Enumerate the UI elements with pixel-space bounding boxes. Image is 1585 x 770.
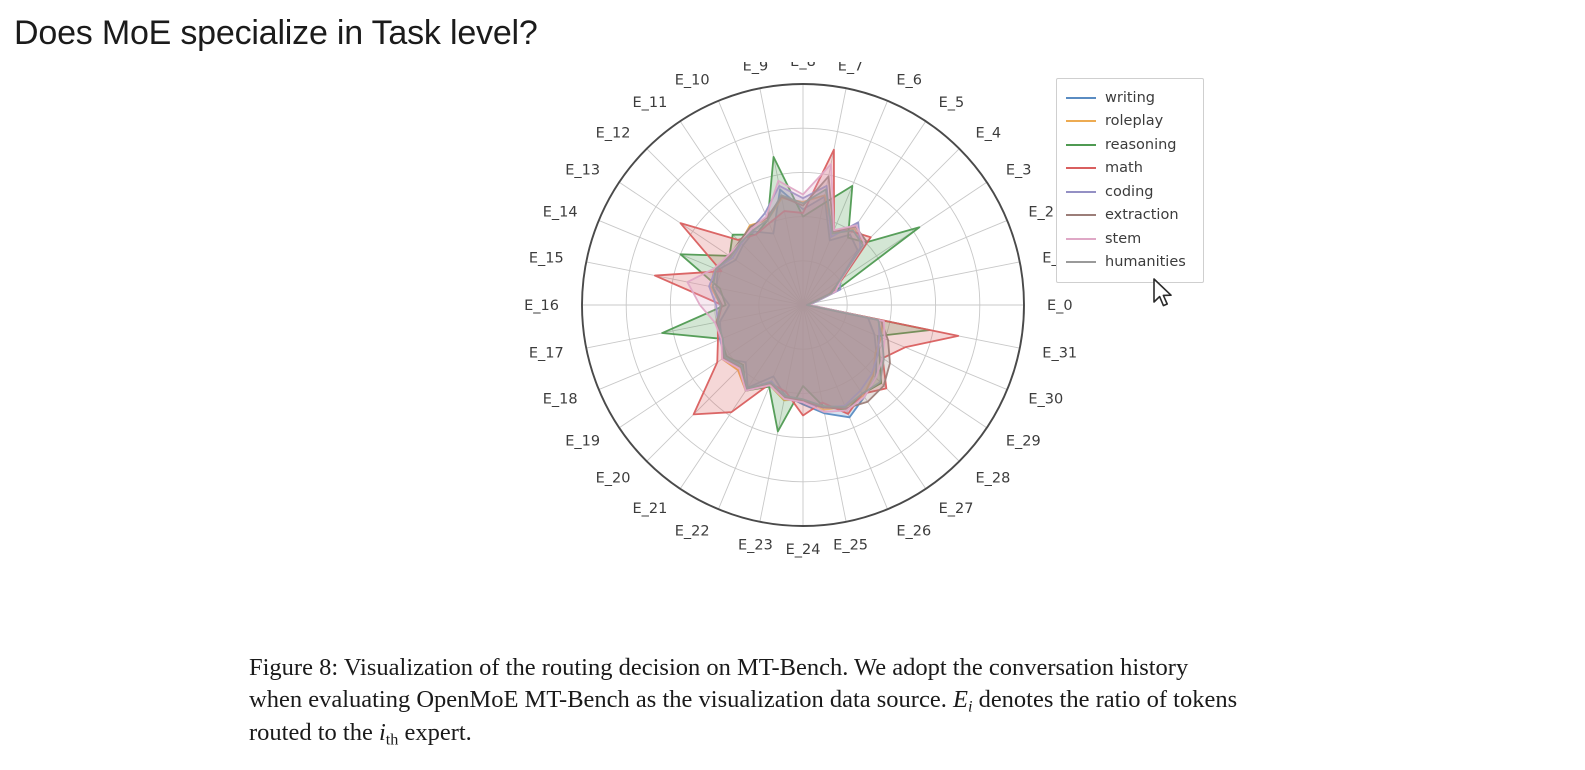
radar-tick-label-E_13: E_13 [565, 162, 600, 178]
radar-tick-label-E_10: E_10 [675, 73, 710, 89]
caption-line-2b: denotes the ratio of tokens [972, 686, 1237, 713]
legend-item-humanities[interactable]: humanities [1066, 251, 1194, 275]
figure-caption: Figure 8: Visualization of the routing d… [249, 652, 1494, 751]
legend-item-extraction[interactable]: extraction [1066, 204, 1194, 228]
radar-tick-label-E_6: E_6 [896, 73, 922, 89]
legend-swatch-roleplay [1066, 120, 1096, 122]
caption-line-3a: routed to the [249, 719, 379, 746]
radar-tick-label-E_3: E_3 [1006, 162, 1032, 178]
legend-swatch-extraction [1066, 214, 1096, 216]
radar-tick-label-E_16: E_16 [524, 298, 559, 314]
legend-item-roleplay[interactable]: roleplay [1066, 110, 1194, 134]
radar-tick-label-E_19: E_19 [565, 434, 600, 450]
radar-tick-label-E_27: E_27 [939, 501, 974, 517]
legend-label-writing: writing [1105, 91, 1155, 106]
legend-label-reasoning: reasoning [1105, 138, 1177, 153]
radar-chart: E_0E_1E_2E_3E_4E_5E_6E_7E_8E_9E_10E_11E_… [510, 62, 1110, 632]
caption-line-1: Figure 8: Visualization of the routing d… [249, 654, 1188, 681]
radar-tick-label-E_23: E_23 [738, 537, 773, 553]
caption-line-3b: expert. [398, 719, 471, 746]
legend-label-humanities: humanities [1105, 255, 1186, 270]
radar-chart-svg: E_0E_1E_2E_3E_4E_5E_6E_7E_8E_9E_10E_11E_… [510, 62, 1110, 632]
legend-label-roleplay: roleplay [1105, 114, 1163, 129]
legend-swatch-stem [1066, 238, 1096, 240]
caption-symbol-E: E [953, 686, 968, 713]
radar-tick-label-E_14: E_14 [543, 205, 578, 221]
radar-tick-label-E_2: E_2 [1028, 205, 1054, 221]
caption-symbol-i: i [379, 719, 386, 746]
radar-tick-label-E_9: E_9 [743, 62, 769, 75]
legend-swatch-reasoning [1066, 144, 1096, 146]
legend-item-writing[interactable]: writing [1066, 86, 1194, 110]
radar-tick-label-E_21: E_21 [633, 501, 668, 517]
radar-tick-label-E_30: E_30 [1028, 391, 1063, 407]
legend-item-coding[interactable]: coding [1066, 180, 1194, 204]
radar-tick-label-E_22: E_22 [675, 523, 710, 539]
radar-tick-label-E_31: E_31 [1042, 346, 1077, 362]
radar-tick-label-E_12: E_12 [596, 126, 631, 142]
radar-tick-label-E_4: E_4 [976, 126, 1002, 142]
figure-8: E_0E_1E_2E_3E_4E_5E_6E_7E_8E_9E_10E_11E_… [0, 62, 1585, 642]
radar-tick-label-E_5: E_5 [939, 95, 965, 111]
radar-tick-label-E_0: E_0 [1047, 298, 1073, 314]
radar-tick-label-E_15: E_15 [529, 250, 564, 266]
legend-swatch-writing [1066, 97, 1096, 99]
legend-item-stem[interactable]: stem [1066, 227, 1194, 251]
radar-tick-label-E_24: E_24 [786, 542, 821, 558]
radar-tick-label-E_18: E_18 [543, 391, 578, 407]
radar-tick-label-E_7: E_7 [838, 62, 864, 75]
radar-tick-label-E_28: E_28 [976, 471, 1011, 487]
radar-tick-label-E_8: E_8 [790, 62, 816, 70]
legend-item-math[interactable]: math [1066, 157, 1194, 181]
legend-label-coding: coding [1105, 185, 1153, 200]
radar-tick-label-E_11: E_11 [633, 95, 668, 111]
radar-tick-label-E_17: E_17 [529, 346, 564, 362]
legend-swatch-humanities [1066, 261, 1096, 263]
chart-legend: writingroleplayreasoningmathcodingextrac… [1056, 78, 1204, 283]
radar-tick-label-E_20: E_20 [596, 471, 631, 487]
legend-swatch-coding [1066, 191, 1096, 193]
page-title: Does MoE specialize in Task level? [14, 14, 538, 53]
legend-item-reasoning[interactable]: reasoning [1066, 133, 1194, 157]
radar-tick-label-E_29: E_29 [1006, 434, 1041, 450]
legend-label-stem: stem [1105, 232, 1141, 247]
caption-symbol-i-subscript: th [386, 732, 399, 749]
legend-swatch-math [1066, 167, 1096, 169]
radar-tick-label-E_25: E_25 [833, 537, 868, 553]
radar-tick-label-E_26: E_26 [896, 523, 931, 539]
legend-label-math: math [1105, 161, 1143, 176]
legend-label-extraction: extraction [1105, 208, 1179, 223]
caption-line-2a: when evaluating OpenMoE MT-Bench as the … [249, 686, 953, 713]
